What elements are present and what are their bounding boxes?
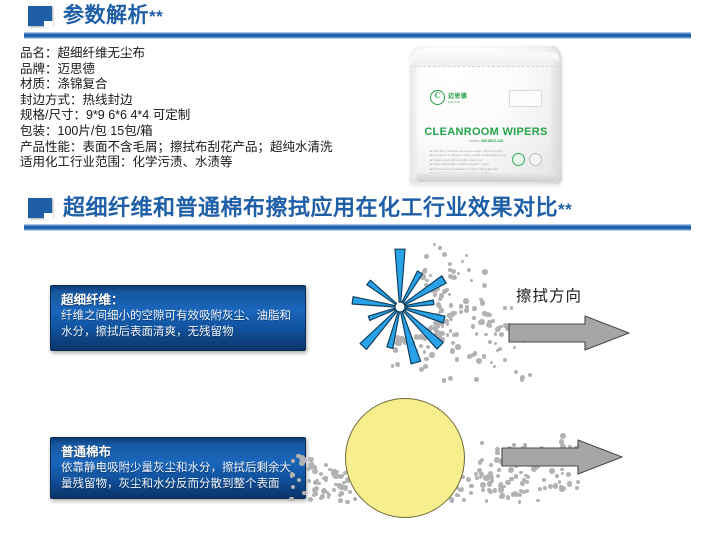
dust-particle: [482, 354, 486, 358]
param-line: 材质：涤锦复合: [20, 77, 380, 93]
cotton-box-body: 依靠静电吸附少量灰尘和水分，擦拭后剩余大量残留物，灰尘和水分反而分散到整个表面: [61, 461, 296, 492]
wipe-direction-label: 擦拭方向: [516, 284, 582, 306]
dust-particle: [498, 347, 502, 351]
section-heading-parameters: 参数解析**: [0, 4, 715, 39]
heading-divider-rule: [24, 224, 691, 231]
dust-particle: [503, 306, 507, 310]
slide-canvas: 参数解析** 品名：超细纤维无尘布 品牌：迈思德 材质：涤锦复合 封边方式：热线…: [0, 0, 715, 549]
hotline-prefix: hotline:: [469, 139, 480, 143]
dust-particle: [559, 485, 563, 489]
dust-particle: [339, 491, 343, 495]
dust-particle: [494, 332, 498, 336]
dust-particle: [522, 490, 526, 494]
dust-particle: [518, 493, 522, 497]
dust-particle: [553, 483, 559, 489]
section-1-title: 参数解析**: [63, 4, 163, 27]
yellow-disc: [345, 398, 465, 518]
dust-particle: [302, 491, 307, 496]
dust-particle: [324, 463, 328, 467]
dust-particle: [302, 457, 306, 461]
bag-bottom-seal: [416, 173, 556, 182]
dust-particle: [312, 487, 318, 493]
cotton-box-title: 普通棉布: [61, 444, 296, 461]
dust-particle: [319, 472, 323, 476]
dust-particle: [494, 342, 497, 345]
dust-particle: [503, 358, 507, 362]
package-bullet-list: ■ Ultra fine microfiber cleanroom wiper,…: [430, 149, 506, 175]
dust-particle: [510, 477, 513, 480]
dust-particle: [481, 488, 485, 492]
bag-right-fold: [549, 60, 562, 174]
dust-particle: [480, 458, 484, 462]
param-line: 产品性能：表面不含毛屑；擦拭布刮花产品；超纯水清洗: [20, 140, 380, 156]
section-1-title-suffix: **: [149, 7, 163, 26]
dust-particle: [307, 479, 311, 483]
dust-particle: [480, 300, 485, 305]
wipe-direction-arrow-bottom: [500, 438, 624, 476]
param-line: 包装：100片/包 15包/箱: [20, 124, 380, 140]
section-2-title: 超细纤维和普通棉布擦拭应用在化工行业效果对比**: [63, 196, 572, 220]
dust-particle: [484, 476, 490, 482]
dust-particle: [478, 320, 483, 325]
section-1-title-text: 参数解析: [63, 4, 149, 27]
dust-particle: [528, 373, 532, 377]
dust-particle: [480, 441, 484, 445]
dust-particle: [485, 312, 490, 317]
dust-particle: [317, 482, 320, 485]
brand-logo: C 迈思德 maisid: [430, 90, 467, 105]
dust-particle: [543, 486, 547, 490]
product-photo: C 迈思德 maisid CLEANROOM WIPERS hotline: 4…: [402, 42, 572, 190]
param-line: 规格/尺寸：9*9 6*6 4*4 可定制: [20, 108, 380, 124]
dust-particle: [299, 460, 305, 466]
dust-particle: [536, 499, 540, 503]
dust-particle: [558, 480, 562, 484]
blue-burst-star-graphic: [340, 248, 466, 372]
dust-particle: [500, 494, 505, 499]
dust-particle: [471, 353, 475, 357]
brand-name-en: maisid: [448, 100, 467, 104]
dust-particle: [567, 481, 572, 486]
param-line: 封边方式：热线封边: [20, 93, 380, 109]
dust-particle: [488, 340, 492, 344]
microfiber-info-box: 超细纤维： 纤维之间细小的空隙可有效吸附灰尘、油脂和水分，擦拭后表面清爽，无残留…: [50, 285, 306, 351]
dust-particle: [472, 316, 475, 319]
dust-particle: [296, 454, 300, 458]
bag-label-window: [509, 90, 542, 107]
dust-particle: [297, 478, 301, 482]
dust-particle: [538, 487, 542, 491]
dust-particle: [291, 459, 295, 463]
dust-particle: [475, 332, 479, 336]
wipe-direction-arrow-top: [507, 314, 631, 352]
dust-particle: [511, 492, 516, 497]
brand-name-cn: 迈思德: [448, 91, 467, 100]
dust-particle: [479, 476, 483, 480]
hotline-number: 400-8812-418: [481, 139, 503, 143]
microfiber-box-title: 超细纤维：: [61, 292, 296, 309]
dust-particle: [493, 488, 498, 493]
dust-particle: [470, 279, 474, 283]
dust-particle: [575, 486, 579, 490]
dust-particle: [474, 377, 479, 382]
param-line: 品名：超细纤维无尘布: [20, 46, 380, 62]
parameter-list: 品名：超细纤维无尘布 品牌：迈思德 材质：涤锦复合 封边方式：热线封边 规格/尺…: [20, 46, 380, 171]
dust-particle: [319, 496, 323, 500]
dust-particle: [480, 482, 486, 488]
dust-particle: [506, 495, 510, 499]
dust-particle: [525, 480, 529, 484]
dust-particle: [442, 378, 447, 383]
dust-particle: [495, 451, 499, 455]
certification-seal-icon: [512, 153, 525, 166]
dust-particle: [312, 469, 317, 474]
dust-particle: [499, 482, 503, 486]
certification-seal-icon: [529, 153, 542, 166]
section-2-title-text: 超细纤维和普通棉布擦拭应用在化工行业效果对比: [63, 195, 558, 220]
heading-row: 超细纤维和普通棉布擦拭应用在化工行业效果对比**: [0, 196, 715, 220]
heading-row: 参数解析**: [0, 4, 715, 28]
section-2-title-suffix: **: [558, 200, 572, 219]
dust-particle: [486, 323, 489, 326]
bag-left-fold: [410, 60, 419, 174]
dust-particle: [518, 500, 522, 504]
dust-particle: [490, 361, 494, 365]
dust-particle: [475, 476, 479, 480]
dust-particle: [499, 332, 504, 337]
dust-particle: [482, 269, 488, 275]
dust-particle: [542, 478, 546, 482]
folded-square-bullet-icon: [28, 196, 54, 220]
dust-particle: [496, 326, 501, 331]
microfiber-box-body: 纤维之间细小的空隙可有效吸附灰尘、油脂和水分，擦拭后表面清爽，无残留物: [61, 309, 296, 340]
dust-particle: [472, 306, 476, 310]
param-line: 品牌：迈思德: [20, 62, 380, 78]
section-heading-comparison: 超细纤维和普通棉布擦拭应用在化工行业效果对比**: [0, 196, 715, 231]
dust-particle: [289, 497, 294, 502]
dust-particle: [484, 333, 488, 337]
dust-particle: [324, 477, 328, 481]
dust-particle: [306, 467, 309, 470]
dust-particle: [471, 324, 475, 328]
dust-particle: [482, 283, 487, 288]
param-line: 适用化工行业范围：化学污渍、水渍等: [20, 155, 380, 171]
dust-particle: [485, 499, 489, 503]
dust-particle: [576, 480, 580, 484]
package-certification-seals: [512, 153, 542, 166]
dust-particle: [493, 365, 497, 369]
dust-particle: [510, 306, 514, 310]
dust-particle: [548, 484, 553, 489]
dust-particle: [514, 370, 518, 374]
dust-particle: [312, 493, 316, 497]
dust-particle: [308, 497, 313, 502]
dust-particle: [487, 488, 491, 492]
dust-particle: [338, 474, 343, 479]
folded-square-bullet-icon: [28, 4, 54, 28]
dust-particle: [487, 481, 493, 487]
dust-particle: [338, 498, 343, 503]
dust-particle: [488, 471, 493, 476]
dust-particle: [520, 375, 525, 380]
dust-particle: [491, 319, 495, 323]
yellow-circle-graphic: [345, 398, 469, 522]
package-hotline: hotline: 400-8812-418: [410, 139, 562, 143]
bag-top-seal: [413, 52, 559, 67]
dust-particle: [291, 485, 295, 489]
package-title: CLEANROOM WIPERS: [410, 126, 562, 138]
dust-particle: [332, 488, 336, 492]
dust-particle: [489, 463, 493, 467]
cotton-info-box: 普通棉布 依靠静电吸附少量灰尘和水分，擦拭后剩余大量残留物，灰尘和水分反而分散到…: [50, 437, 306, 499]
brand-text: 迈思德 maisid: [448, 91, 467, 104]
dust-particle: [476, 358, 482, 364]
dust-particle: [291, 473, 295, 477]
dust-particle: [448, 376, 453, 381]
dust-particle: [469, 484, 473, 488]
dust-particle: [469, 491, 473, 495]
heading-divider-rule: [24, 32, 691, 39]
logo-mark-icon: C: [430, 90, 445, 105]
dust-particle: [494, 457, 500, 463]
wiper-package-bag: C 迈思德 maisid CLEANROOM WIPERS hotline: 4…: [410, 46, 562, 184]
dust-particle: [433, 243, 436, 246]
dust-particle: [467, 268, 471, 272]
burst-star-svg: [340, 248, 466, 372]
dust-particle: [334, 483, 338, 487]
